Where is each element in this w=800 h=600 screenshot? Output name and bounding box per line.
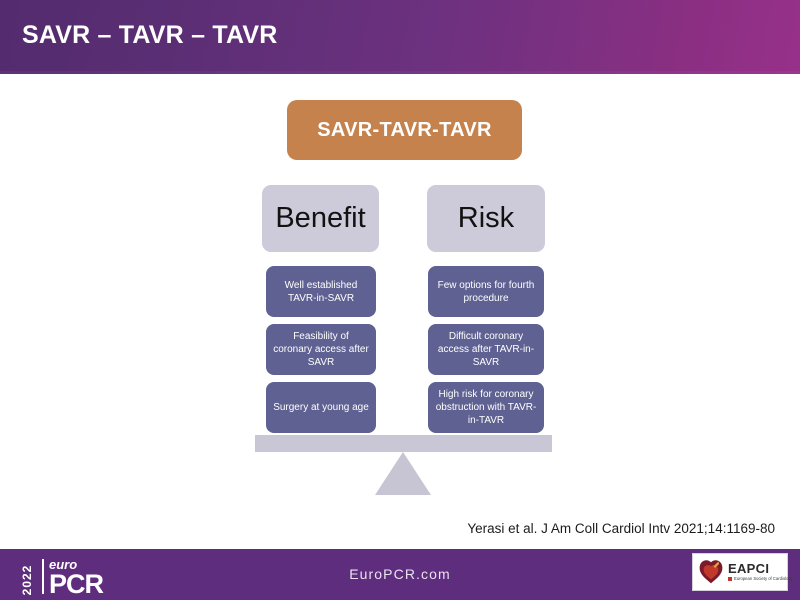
risk-item-3-label: High risk for coronary obstruction with … (435, 388, 537, 427)
eapci-logo: EAPCI European Society of Cardiology (692, 553, 788, 591)
diagram-column-heading-benefit: Benefit (262, 185, 379, 252)
slide-footer-bar: 2022 euro PCR EuroPCR.com (0, 549, 800, 600)
benefit-item-1: Well established TAVR-in-SAVR (266, 266, 376, 317)
heart-icon (698, 559, 724, 585)
diagram-top-box-label: SAVR-TAVR-TAVR (317, 119, 492, 142)
diagram-top-box: SAVR-TAVR-TAVR (287, 100, 522, 160)
page-title: SAVR – TAVR – TAVR (22, 21, 277, 50)
eapci-logo-subtitle-label: European Society of Cardiology (734, 576, 793, 582)
balance-beam (255, 435, 552, 452)
benefit-item-3: Surgery at young age (266, 382, 376, 433)
risk-item-3: High risk for coronary obstruction with … (428, 382, 544, 433)
risk-item-2: Difficult coronary access after TAVR-in-… (428, 324, 544, 375)
benefit-item-3-label: Surgery at young age (273, 401, 369, 414)
eapci-logo-text: EAPCI European Society of Cardiology (728, 562, 793, 582)
benefit-heading-label: Benefit (275, 202, 365, 235)
slide-header-bar: SAVR – TAVR – TAVR (0, 0, 800, 74)
risk-item-1: Few options for fourth procedure (428, 266, 544, 317)
balance-fulcrum-triangle-icon (375, 452, 431, 495)
diagram-column-heading-risk: Risk (427, 185, 545, 252)
risk-heading-label: Risk (458, 202, 514, 235)
benefit-item-2-label: Feasibility of coronary access after SAV… (273, 330, 369, 369)
footer-website-label: EuroPCR.com (0, 566, 800, 582)
eapci-logo-subtitle: European Society of Cardiology (728, 576, 793, 582)
eapci-logo-name: EAPCI (728, 562, 793, 576)
esc-square-icon (728, 577, 732, 581)
risk-item-1-label: Few options for fourth procedure (435, 279, 537, 305)
risk-item-2-label: Difficult coronary access after TAVR-in-… (435, 330, 537, 369)
citation-text: Yerasi et al. J Am Coll Cardiol Intv 202… (467, 521, 775, 536)
benefit-item-2: Feasibility of coronary access after SAV… (266, 324, 376, 375)
balance-diagram: SAVR-TAVR-TAVR Benefit Risk Well establi… (0, 74, 800, 514)
benefit-item-1-label: Well established TAVR-in-SAVR (273, 279, 369, 305)
